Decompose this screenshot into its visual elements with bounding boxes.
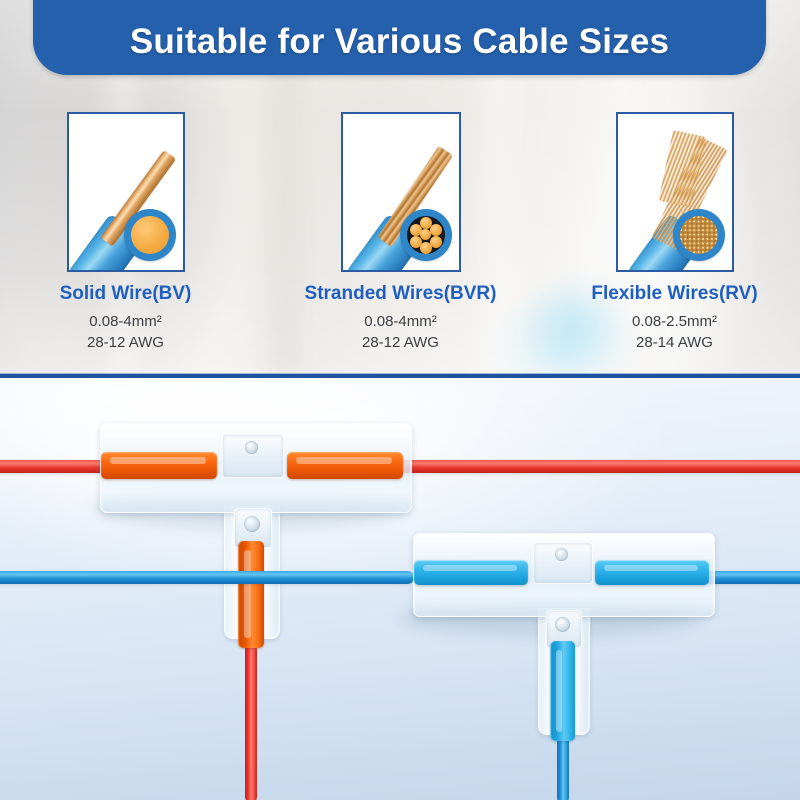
wire-type-cards: Solid Wire(BV) 0.08-4mm² 28-12 AWG bbox=[0, 112, 800, 357]
lever-bottom[interactable] bbox=[238, 541, 264, 648]
infographic-page: Suitable for Various Cable Sizes Solid W… bbox=[0, 0, 800, 800]
header-banner: Suitable for Various Cable Sizes bbox=[33, 0, 766, 75]
cross-section-core bbox=[407, 216, 445, 254]
cross-section-stranded-icon bbox=[400, 209, 452, 261]
card-spec-area: 0.08-2.5mm² bbox=[557, 311, 792, 332]
lever-highlight bbox=[110, 457, 206, 464]
card-spec-awg: 28-12 AWG bbox=[283, 332, 518, 353]
strand bbox=[420, 229, 431, 240]
card-spec-awg: 28-14 AWG bbox=[557, 332, 792, 353]
lever-highlight bbox=[296, 457, 392, 464]
lever-right[interactable] bbox=[595, 560, 709, 585]
flexible-wire-photo bbox=[616, 112, 734, 272]
screw-icon bbox=[245, 441, 258, 454]
stranded-wire-photo bbox=[341, 112, 461, 272]
lever-highlight bbox=[244, 550, 251, 638]
solid-wire-photo bbox=[67, 112, 185, 272]
page-title: Suitable for Various Cable Sizes bbox=[130, 22, 669, 75]
screw-icon bbox=[555, 548, 568, 561]
card-title-solid: Solid Wire(BV) bbox=[8, 283, 243, 305]
strand bbox=[420, 242, 432, 254]
product-photo-section bbox=[0, 378, 800, 800]
lever-left[interactable] bbox=[414, 560, 528, 585]
card-title-stranded: Stranded Wires(BVR) bbox=[283, 283, 518, 305]
lever-highlight bbox=[556, 650, 562, 732]
wire-type-card-stranded: Stranded Wires(BVR) 0.08-4mm² 28-12 AWG bbox=[283, 112, 518, 354]
card-spec-flexible: 0.08-2.5mm² 28-14 AWG bbox=[557, 311, 792, 354]
wire-type-card-flexible: Flexible Wires(RV) 0.08-2.5mm² 28-14 AWG bbox=[557, 112, 792, 354]
screw-icon bbox=[244, 516, 260, 532]
lever-highlight bbox=[604, 565, 698, 571]
cross-section-flexible-icon bbox=[673, 209, 725, 261]
card-spec-stranded: 0.08-4mm² 28-12 AWG bbox=[283, 311, 518, 354]
cross-section-core bbox=[131, 216, 169, 254]
wire-type-card-solid: Solid Wire(BV) 0.08-4mm² 28-12 AWG bbox=[8, 112, 243, 354]
card-spec-solid: 0.08-4mm² 28-12 AWG bbox=[8, 311, 243, 354]
lever-highlight bbox=[423, 565, 517, 571]
screw-icon bbox=[555, 617, 570, 632]
card-spec-area: 0.08-4mm² bbox=[8, 311, 243, 332]
card-title-flexible: Flexible Wires(RV) bbox=[557, 283, 792, 305]
card-spec-awg: 28-12 AWG bbox=[8, 332, 243, 353]
lever-bottom[interactable] bbox=[550, 641, 575, 741]
blue-horizontal-wire bbox=[0, 571, 414, 584]
cross-section-solid-icon bbox=[124, 209, 176, 261]
cross-section-core bbox=[680, 216, 718, 254]
card-spec-area: 0.08-4mm² bbox=[283, 311, 518, 332]
strand bbox=[430, 224, 442, 236]
